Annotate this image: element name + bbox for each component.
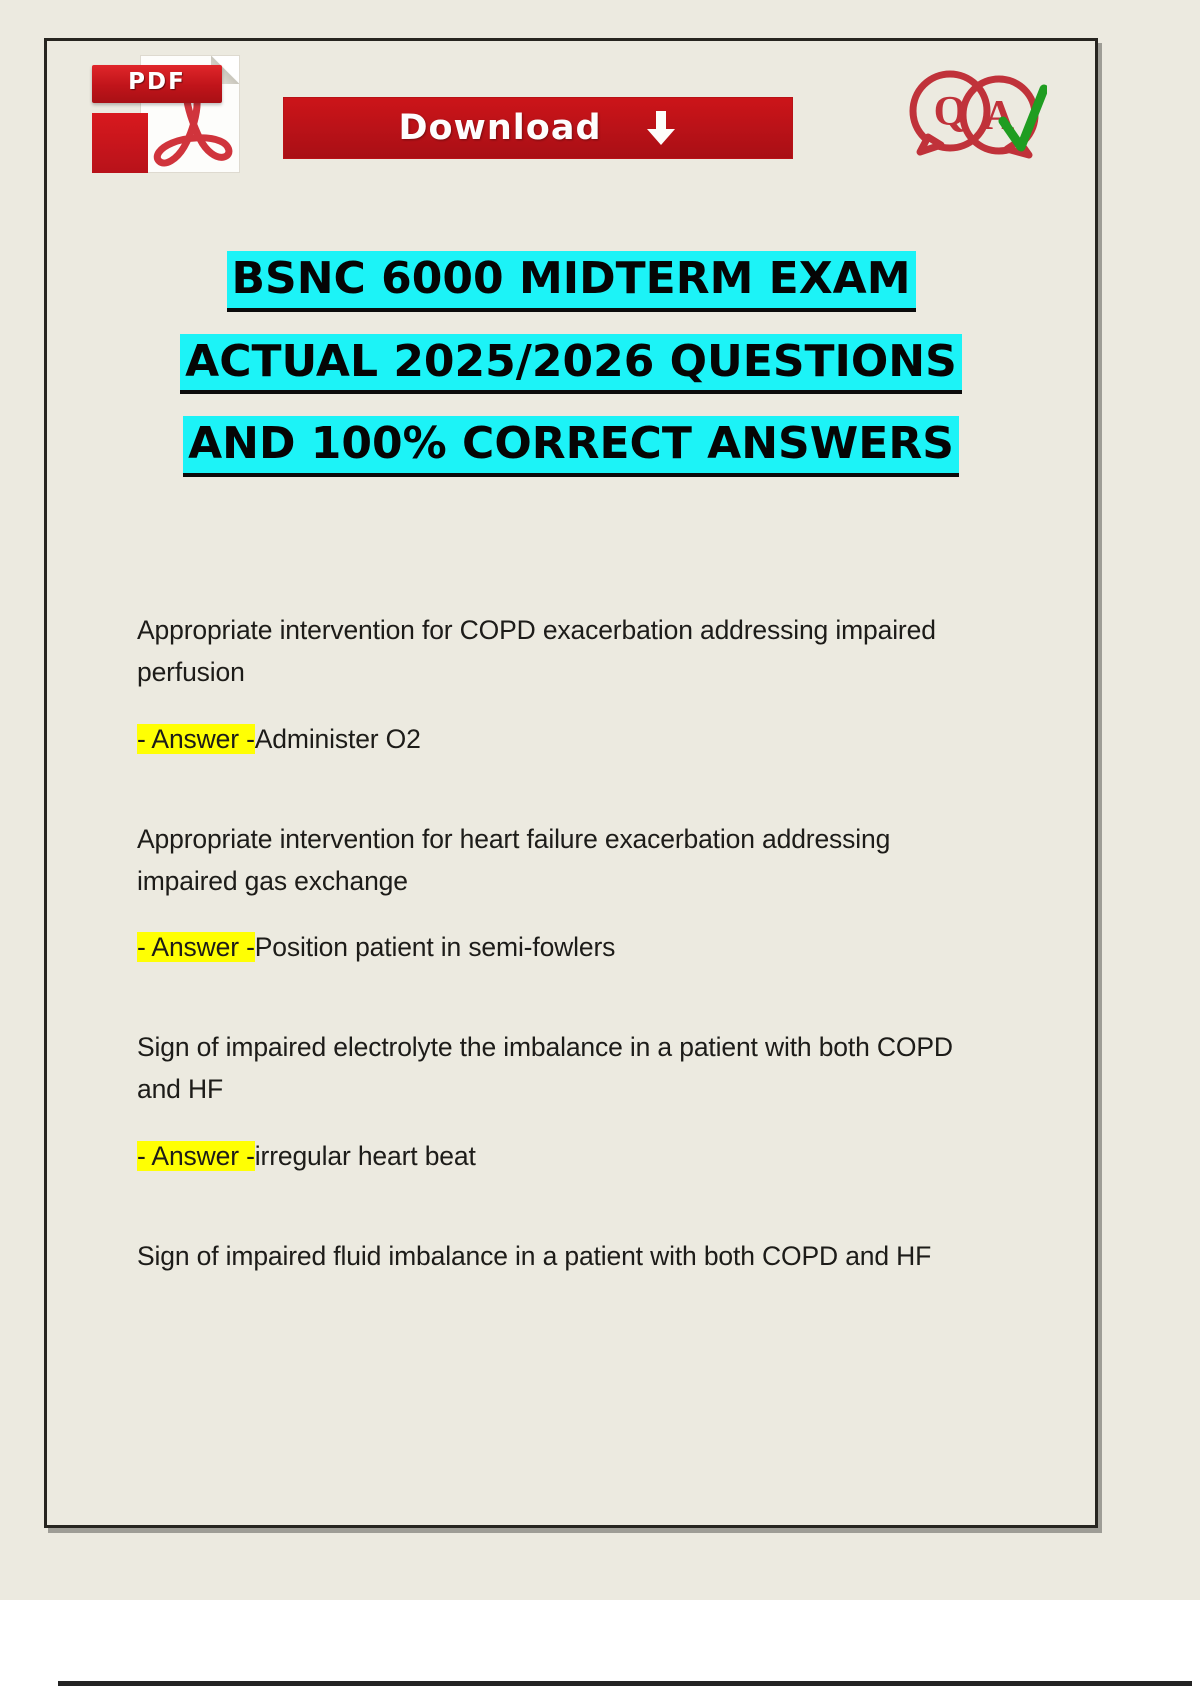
qa-item: Appropriate intervention for heart failu… bbox=[137, 818, 1017, 969]
answer-text: Position patient in semi-fowlers bbox=[255, 932, 615, 962]
answer-marker: - Answer - bbox=[137, 932, 255, 962]
document-canvas: PDF Download Q bbox=[0, 0, 1200, 1600]
document-title: BSNC 6000 MIDTERM EXAM ACTUAL 2025/2026 … bbox=[47, 251, 1095, 499]
title-line-3: AND 100% CORRECT ANSWERS bbox=[47, 416, 1095, 477]
question-text: Sign of impaired electrolyte the imbalan… bbox=[137, 1026, 997, 1111]
qa-verified-logo: Q A bbox=[887, 59, 1047, 171]
answer-line: - Answer -Administer O2 bbox=[137, 720, 1017, 760]
pdf-file-icon[interactable]: PDF bbox=[92, 55, 240, 173]
title-line-1: BSNC 6000 MIDTERM EXAM bbox=[47, 251, 1095, 312]
qa-item: Sign of impaired electrolyte the imbalan… bbox=[137, 1026, 1017, 1177]
answer-line: - Answer -irregular heart beat bbox=[137, 1137, 1017, 1177]
title-line-3-text: AND 100% CORRECT ANSWERS bbox=[183, 416, 959, 477]
qa-item: Appropriate intervention for COPD exacer… bbox=[137, 609, 1017, 760]
download-arrow-icon bbox=[644, 109, 678, 147]
download-button[interactable]: Download bbox=[283, 97, 793, 159]
document-page: PDF Download Q bbox=[44, 38, 1098, 1528]
answer-text: Administer O2 bbox=[255, 724, 421, 754]
title-line-1-text: BSNC 6000 MIDTERM EXAM bbox=[227, 251, 916, 312]
document-header: PDF Download Q bbox=[47, 41, 1095, 191]
qa-content-list: Appropriate intervention for COPD exacer… bbox=[137, 609, 1017, 1335]
title-line-2-text: ACTUAL 2025/2026 QUESTIONS bbox=[180, 334, 962, 395]
pdf-label-text: PDF bbox=[92, 69, 222, 95]
pdf-red-block bbox=[92, 113, 148, 173]
answer-marker: - Answer - bbox=[137, 724, 255, 754]
bottom-divider bbox=[58, 1681, 1192, 1686]
answer-line: - Answer -Position patient in semi-fowle… bbox=[137, 928, 1017, 968]
qa-item: Sign of impaired fluid imbalance in a pa… bbox=[137, 1235, 1017, 1277]
pdf-label-banner: PDF bbox=[92, 65, 222, 103]
answer-marker: - Answer - bbox=[137, 1141, 255, 1171]
question-text: Appropriate intervention for heart failu… bbox=[137, 818, 997, 903]
title-line-2: ACTUAL 2025/2026 QUESTIONS bbox=[47, 334, 1095, 395]
download-button-label: Download bbox=[398, 108, 601, 148]
question-text: Sign of impaired fluid imbalance in a pa… bbox=[137, 1235, 997, 1277]
answer-text: irregular heart beat bbox=[255, 1141, 476, 1171]
question-text: Appropriate intervention for COPD exacer… bbox=[137, 609, 997, 694]
